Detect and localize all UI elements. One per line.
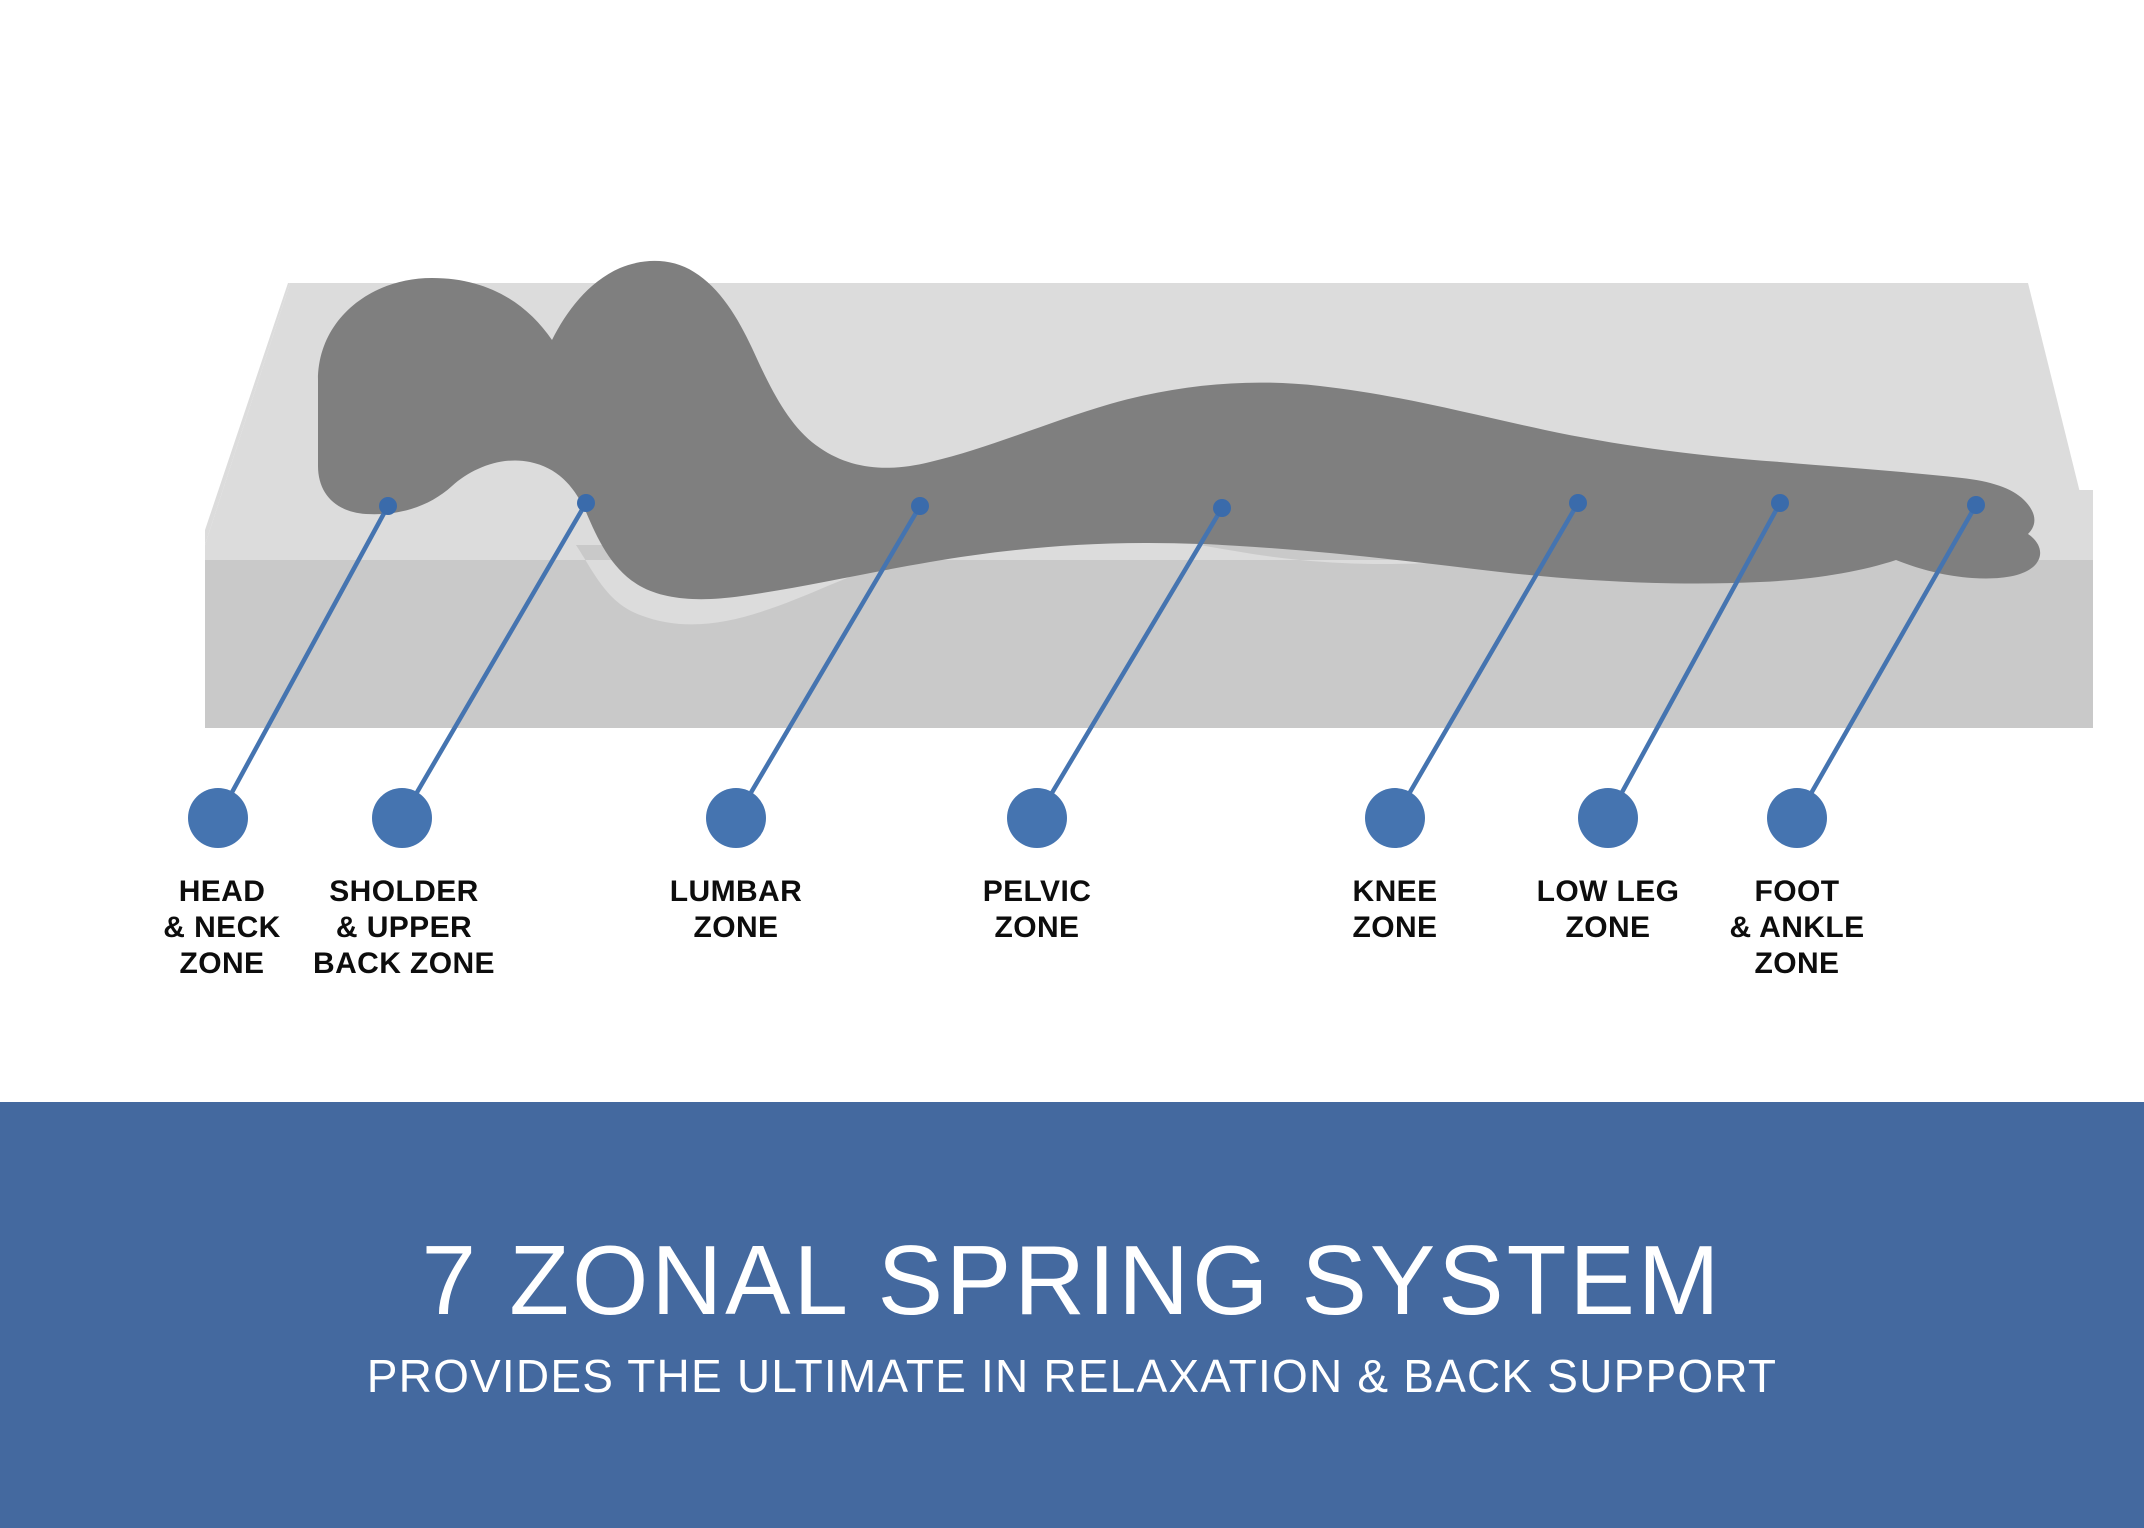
banner-title: 7 ZONAL SPRING SYSTEM	[422, 1228, 1723, 1332]
banner-subtitle: PROVIDES THE ULTIMATE IN RELAXATION & BA…	[367, 1350, 1777, 1402]
zone-label-lumbar: LUMBAR ZONE	[670, 874, 802, 946]
zone-label-knee: KNEE ZONE	[1353, 874, 1438, 946]
diagram-area: HEAD & NECK ZONE SHOLDER & UPPER BACK ZO…	[0, 0, 2144, 1102]
bottom-banner: 7 ZONAL SPRING SYSTEM PROVIDES THE ULTIM…	[0, 1102, 2144, 1528]
zone-label-low-leg: LOW LEG ZONE	[1537, 874, 1680, 946]
infographic-root: HEAD & NECK ZONE SHOLDER & UPPER BACK ZO…	[0, 0, 2144, 1528]
zone-label-head-neck: HEAD & NECK ZONE	[163, 874, 280, 982]
zone-label-foot-ankle: FOOT & ANKLE ZONE	[1729, 874, 1864, 982]
zone-label-shoulder-upper-back: SHOLDER & UPPER BACK ZONE	[313, 874, 495, 982]
zone-labels-layer: HEAD & NECK ZONE SHOLDER & UPPER BACK ZO…	[0, 0, 2144, 1102]
zone-label-pelvic: PELVIC ZONE	[983, 874, 1092, 946]
